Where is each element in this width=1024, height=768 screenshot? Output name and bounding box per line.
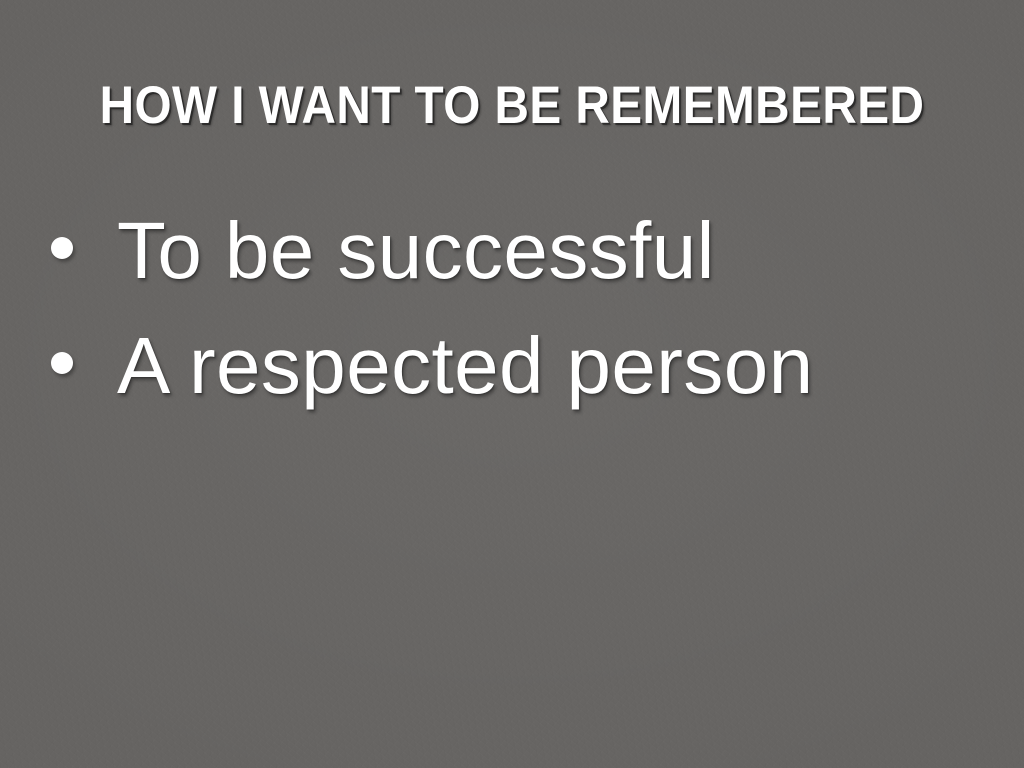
list-item-label: A respected person bbox=[117, 320, 814, 412]
bullet-dot-icon bbox=[51, 352, 73, 374]
list-item-label: To be successful bbox=[117, 205, 715, 297]
list-item: A respected person bbox=[36, 320, 986, 435]
slide-title: HOW I WANT TO BE REMEMBERED bbox=[51, 78, 973, 133]
presentation-slide: HOW I WANT TO BE REMEMBERED To be succes… bbox=[0, 0, 1024, 768]
list-item: To be successful bbox=[36, 205, 986, 320]
slide-content: HOW I WANT TO BE REMEMBERED To be succes… bbox=[0, 0, 1024, 768]
bullet-dot-icon bbox=[51, 237, 73, 259]
bullet-list: To be successful A respected person bbox=[36, 205, 986, 435]
